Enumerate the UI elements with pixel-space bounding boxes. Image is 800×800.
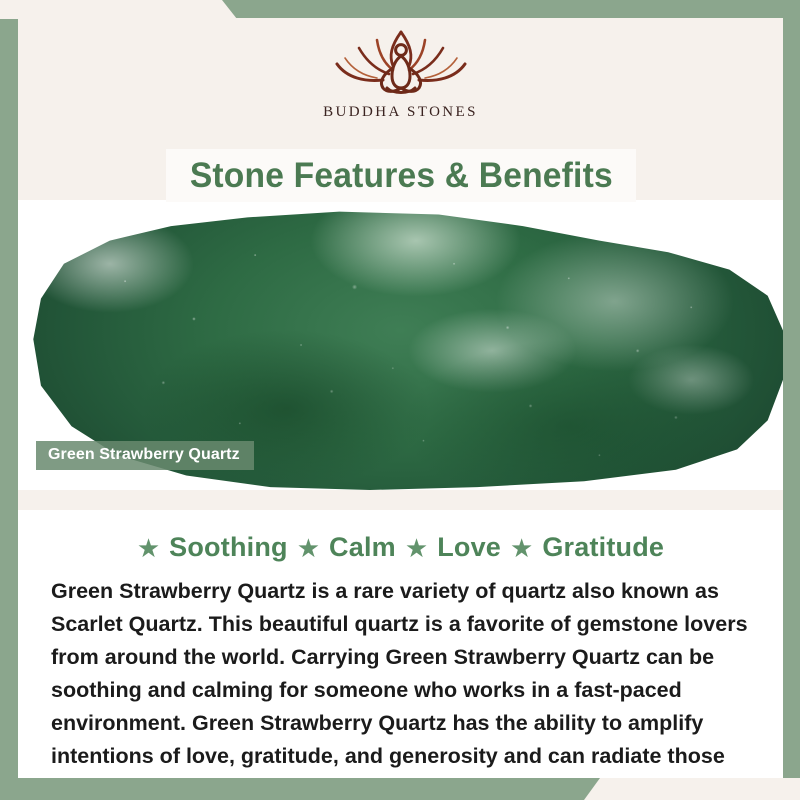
- keyword-calm: Calm: [329, 532, 396, 563]
- keyword-gratitude: Gratitude: [542, 532, 664, 563]
- star-icon: ★: [405, 535, 428, 561]
- top-left-corner-wedge: [0, 0, 240, 19]
- header: BUDDHA STONES: [18, 18, 783, 138]
- star-icon: ★: [297, 535, 320, 561]
- bottom-right-corner-wedge: [570, 778, 800, 800]
- star-icon: ★: [137, 535, 160, 561]
- page-title: Stone Features & Benefits: [189, 156, 612, 196]
- cream-divider: [18, 490, 783, 510]
- brand-logo: BUDDHA STONES: [18, 24, 783, 121]
- keyword-love: Love: [437, 532, 501, 563]
- benefit-keywords: ★ Soothing ★ Calm ★ Love ★ Gratitude: [18, 532, 783, 563]
- photo-caption-label: Green Strawberry Quartz: [48, 446, 240, 463]
- body-section: ★ Soothing ★ Calm ★ Love ★ Gratitude Gre…: [18, 490, 783, 778]
- content-card: BUDDHA STONES Stone Features & Benefits …: [18, 18, 783, 778]
- photo-caption-bar: Green Strawberry Quartz: [36, 441, 254, 470]
- page-background: BUDDHA STONES Stone Features & Benefits …: [0, 0, 800, 800]
- stone-photo: Green Strawberry Quartz: [18, 200, 783, 490]
- keyword-soothing: Soothing: [169, 532, 288, 563]
- description-paragraph: Green Strawberry Quartz is a rare variet…: [51, 575, 758, 778]
- lotus-meditation-icon: [321, 24, 481, 102]
- title-panel: Stone Features & Benefits: [166, 149, 636, 202]
- brand-name: BUDDHA STONES: [323, 104, 478, 121]
- star-icon: ★: [510, 535, 533, 561]
